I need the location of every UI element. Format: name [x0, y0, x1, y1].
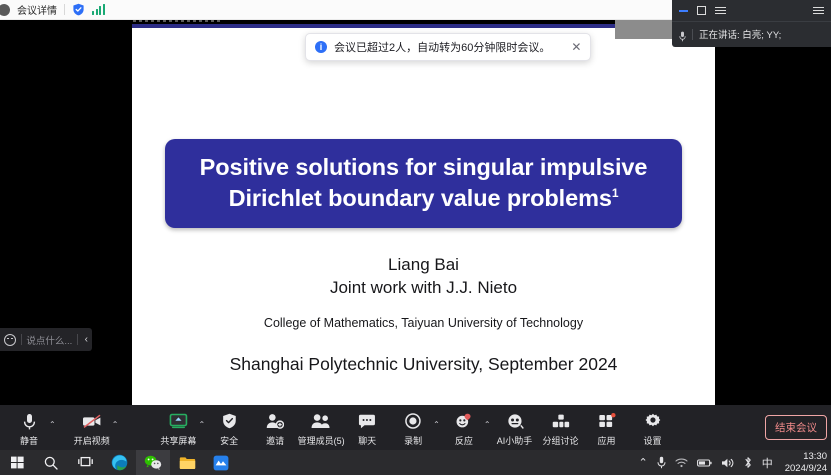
breakout-rooms-button-label: 分组讨论: [543, 434, 579, 447]
mute-button-label: 静音: [20, 434, 38, 447]
reactions-control-group: 反应 ⌃: [441, 409, 492, 447]
meeting-avatar: [0, 4, 10, 16]
record-button[interactable]: 录制: [390, 409, 436, 447]
chat-input-bar[interactable]: 说点什么... ‹: [0, 328, 92, 351]
person-add-icon: [266, 412, 284, 431]
clock-time: 13:30: [785, 451, 827, 462]
slide-title-footnote-marker: 1: [612, 186, 619, 200]
shared-screen-slide: Positive solutions for singular impulsiv…: [132, 24, 715, 405]
chevron-up-icon[interactable]: ⌃: [433, 420, 440, 429]
ai-assistant-button[interactable]: AI小助手: [492, 409, 538, 447]
divider: [64, 4, 65, 15]
apps-button-label: 应用: [598, 434, 616, 447]
mute-control-group: 静音 ⌃: [6, 409, 57, 447]
meeting-app-button[interactable]: [204, 450, 238, 475]
more-icon[interactable]: [813, 7, 824, 15]
apps-icon: [598, 412, 616, 431]
tray-microphone-icon[interactable]: [657, 456, 666, 469]
speaker-overlay-panel: 正在讲话: 白亮; YY;: [672, 0, 831, 47]
manage-participants-button[interactable]: 管理成员(5): [298, 409, 344, 447]
start-video-button[interactable]: 开启视频: [69, 409, 115, 447]
slide-venue: Shanghai Polytechnic University, Septemb…: [132, 354, 715, 375]
start-video-button-label: 开启视频: [74, 434, 110, 447]
chat-button[interactable]: 聊天: [344, 409, 390, 447]
security-button-label: 安全: [220, 434, 238, 447]
ai-assistant-icon: [506, 412, 524, 431]
signal-strength-icon[interactable]: [92, 4, 105, 15]
video-off-icon: [82, 412, 102, 431]
meeting-stage: Positive solutions for singular impulsiv…: [0, 20, 831, 405]
control-bar-right-group: 结束会议: [765, 415, 827, 440]
ai-assistant-button-label: AI小助手: [497, 434, 533, 447]
chat-collapse-button[interactable]: ‹: [83, 334, 88, 345]
reactions-button[interactable]: 反应: [441, 409, 487, 447]
chat-icon: [358, 412, 376, 431]
control-bar-left-group: 静音 ⌃ 开启视频 ⌃: [0, 409, 119, 447]
slide-author-block: Liang Bai Joint work with J.J. Nieto: [132, 253, 715, 300]
bluetooth-icon[interactable]: [743, 456, 753, 469]
slide-title-line1: Positive solutions for singular impulsiv…: [200, 154, 648, 180]
file-explorer-button[interactable]: [170, 450, 204, 475]
meeting-limit-notification: i 会议已超过2人，自动转为60分钟限时会议。 ✕: [305, 33, 591, 61]
minimize-icon[interactable]: [679, 10, 688, 12]
meeting-control-bar: 静音 ⌃ 开启视频 ⌃: [0, 405, 831, 450]
breakout-rooms-button[interactable]: 分组讨论: [538, 409, 584, 447]
slide-author-name: Liang Bai: [132, 253, 715, 276]
chevron-up-icon[interactable]: ⌃: [49, 420, 56, 429]
meeting-window: 会议详情 Positive solutions for singular imp…: [0, 0, 831, 475]
edge-button[interactable]: [102, 450, 136, 475]
breakout-rooms-icon: [552, 412, 570, 431]
task-view-button[interactable]: [68, 450, 102, 475]
notification-message: 会议已超过2人，自动转为60分钟限时会议。: [334, 39, 550, 55]
search-button[interactable]: [34, 450, 68, 475]
taskbar-clock[interactable]: 13:30 2024/9/24: [782, 451, 827, 474]
meeting-details-label[interactable]: 会议详情: [17, 2, 57, 17]
share-screen-icon: [169, 412, 188, 431]
emoji-icon[interactable]: [4, 334, 16, 346]
chevron-up-icon[interactable]: ⌃: [112, 420, 119, 429]
active-speaker-status: 正在讲话: 白亮; YY;: [699, 27, 781, 41]
participant-thumbnail-stub: [615, 20, 672, 39]
reactions-icon: [455, 412, 473, 431]
invite-button[interactable]: 邀请: [252, 409, 298, 447]
slide-title: Positive solutions for singular impulsiv…: [183, 152, 664, 213]
record-button-label: 录制: [404, 434, 422, 447]
speaker-status-row: 正在讲话: 白亮; YY;: [672, 22, 831, 46]
security-button[interactable]: 安全: [206, 409, 252, 447]
windows-taskbar: ⌃: [0, 450, 831, 475]
chevron-up-icon[interactable]: ⌃: [639, 456, 648, 469]
chevron-up-icon[interactable]: ⌃: [198, 420, 205, 429]
chat-button-label: 聊天: [358, 434, 376, 447]
menu-icon[interactable]: [715, 7, 726, 15]
manage-participants-button-label: 管理成员(5): [298, 434, 345, 447]
start-button[interactable]: [0, 450, 34, 475]
chevron-up-icon[interactable]: ⌃: [484, 420, 491, 429]
divider: [692, 29, 693, 40]
microphone-icon: [23, 412, 36, 431]
participants-icon: [311, 412, 331, 431]
invite-button-label: 邀请: [266, 434, 284, 447]
speaker-overlay-titlebar: [672, 0, 831, 22]
chat-input-placeholder[interactable]: 说点什么...: [26, 333, 72, 347]
system-tray: ⌃: [639, 451, 827, 474]
microphone-icon: [679, 29, 686, 40]
shield-icon[interactable]: [72, 3, 85, 16]
info-icon: i: [315, 41, 327, 53]
volume-icon[interactable]: [721, 457, 734, 469]
wechat-button[interactable]: [136, 450, 170, 475]
control-bar-middle-group: 共享屏幕 ⌃ 安全: [155, 409, 675, 447]
battery-icon[interactable]: [697, 458, 712, 468]
maximize-icon[interactable]: [697, 6, 706, 15]
share-screen-button[interactable]: 共享屏幕: [155, 409, 201, 447]
video-control-group: 开启视频 ⌃: [69, 409, 120, 447]
clock-date: 2024/9/24: [785, 463, 827, 474]
ime-chinese-icon[interactable]: 中: [762, 455, 773, 471]
settings-button-label: 设置: [644, 434, 662, 447]
mute-button[interactable]: 静音: [6, 409, 52, 447]
gear-icon: [645, 412, 661, 431]
apps-button[interactable]: 应用: [584, 409, 630, 447]
end-meeting-button[interactable]: 结束会议: [765, 415, 827, 440]
share-screen-control-group: 共享屏幕 ⌃: [155, 409, 206, 447]
slide-title-box: Positive solutions for singular impulsiv…: [165, 139, 682, 228]
slide-coauthor-note: Joint work with J.J. Nieto: [132, 276, 715, 299]
reactions-button-label: 反应: [455, 434, 473, 447]
shield-icon: [222, 412, 237, 431]
slide-title-line2: Dirichlet boundary value problems: [229, 185, 612, 211]
settings-button[interactable]: 设置: [630, 409, 676, 447]
wifi-icon[interactable]: [675, 457, 688, 468]
toolbar-drag-handle[interactable]: [133, 19, 238, 23]
slide-affiliation: College of Mathematics, Taiyuan Universi…: [132, 316, 715, 330]
close-icon[interactable]: ✕: [571, 41, 581, 53]
share-screen-button-label: 共享屏幕: [160, 434, 196, 447]
record-control-group: 录制 ⌃: [390, 409, 441, 447]
record-icon: [405, 412, 421, 431]
